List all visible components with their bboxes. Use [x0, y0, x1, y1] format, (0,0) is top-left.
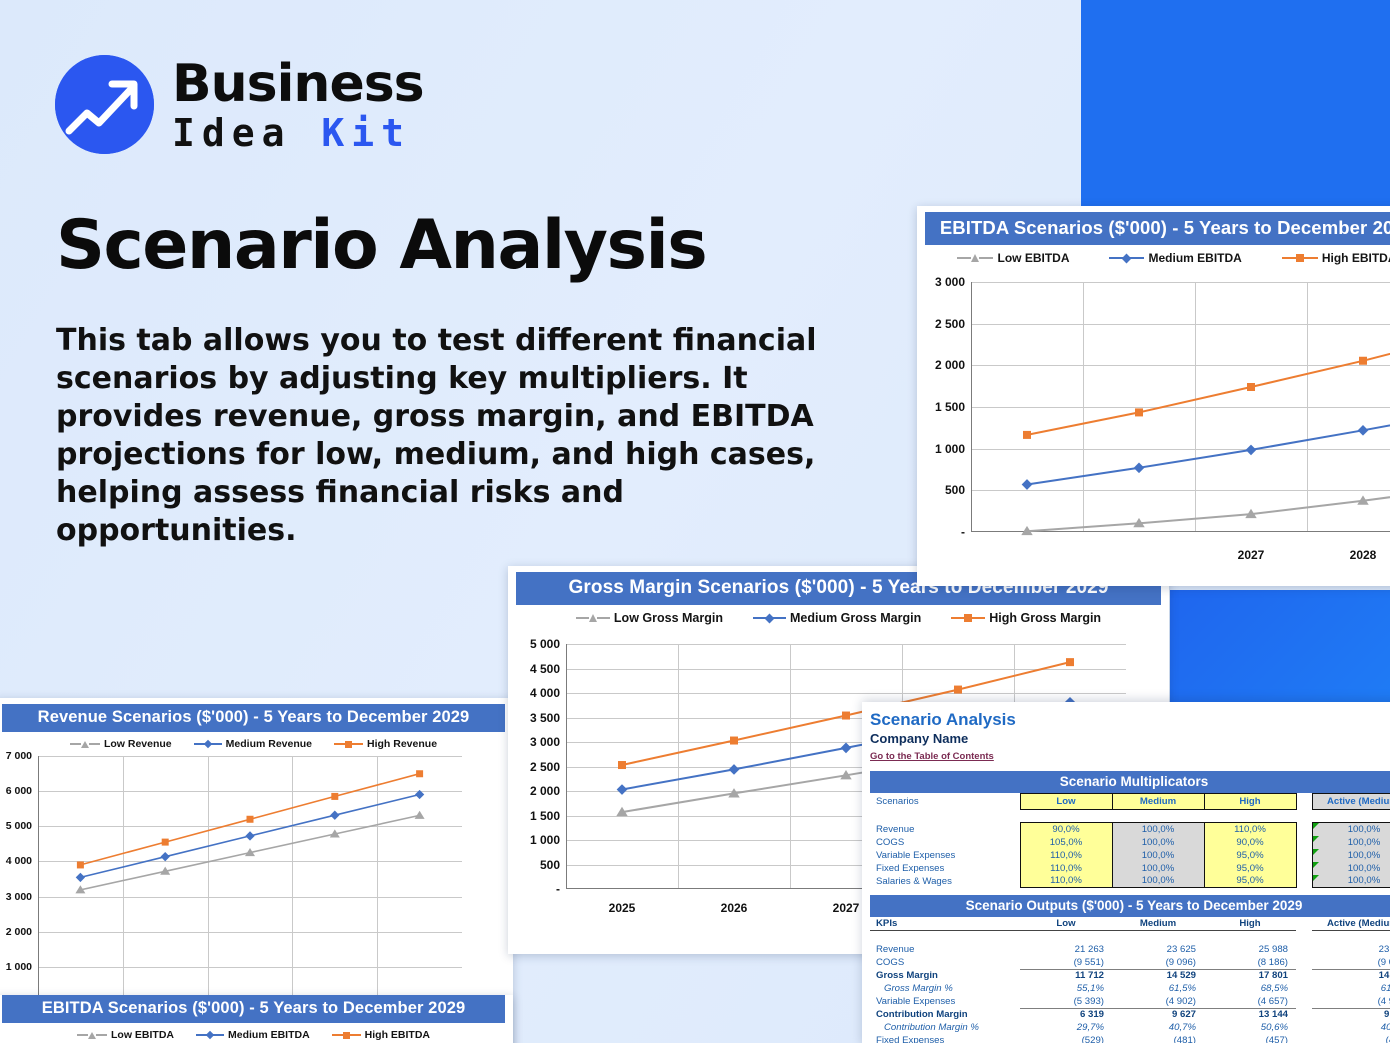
kpi-high: 17 801 [1204, 969, 1296, 982]
multiplicators-band: Scenario Multiplicators [870, 771, 1390, 793]
kpi-medium: (4 902) [1112, 995, 1204, 1008]
y-axis-tick: 7 000 [0, 750, 32, 762]
kpi-active: (9 096) [1312, 956, 1390, 969]
kpi-label: Contribution Margin [870, 1008, 1020, 1021]
legend-marker-diamond [206, 1031, 214, 1039]
multiplicators-col-header-1: Medium [1112, 794, 1204, 810]
legend-label: High Gross Margin [989, 611, 1101, 625]
kpi-low: (9 551) [1020, 956, 1112, 969]
legend-label: Medium EBITDA [1148, 251, 1241, 265]
y-axis-tick: 4 000 [512, 686, 560, 700]
data-point [77, 861, 84, 868]
series-line-1 [1027, 410, 1390, 485]
ebitda-bottom-chart-title: EBITDA Scenarios ($'000) - 5 Years to De… [2, 995, 505, 1023]
multiplicator-label: Variable Expenses [870, 849, 1020, 862]
y-axis-tick: 5 000 [0, 820, 32, 832]
y-axis-tick: 3 000 [0, 891, 32, 903]
legend-marker-triangle [589, 614, 597, 622]
legend-label: Medium EBITDA [228, 1029, 310, 1041]
data-point [76, 873, 85, 882]
legend-marker-diamond [203, 740, 211, 748]
gross-margin-chart-legend: Low Gross MarginMedium Gross MarginHigh … [516, 611, 1161, 625]
legend-line [576, 617, 589, 619]
legend-item-1: Medium EBITDA [196, 1029, 310, 1041]
spreadsheet-title: Scenario Analysis [870, 710, 1390, 730]
legend-marker-diamond [1122, 253, 1132, 263]
multiplicator-medium[interactable]: 100,0% [1112, 836, 1204, 849]
legend-item-2: High Gross Margin [951, 611, 1101, 625]
y-axis-tick: 2 000 [0, 926, 32, 938]
y-axis-tick: 500 [512, 858, 560, 872]
data-point [1066, 658, 1074, 666]
legend-marker-triangle [971, 254, 979, 262]
y-axis-tick: 2 500 [919, 317, 965, 331]
scenario-analysis-spreadsheet: Scenario Analysis Company Name Go to the… [862, 702, 1390, 1043]
legend-label: Low EBITDA [111, 1029, 174, 1041]
legend-item-2: High EBITDA [332, 1029, 430, 1041]
kpi-high: 68,5% [1204, 982, 1296, 995]
data-point [1134, 463, 1145, 474]
multiplicators-col-header-0: Low [1020, 794, 1112, 810]
y-axis-tick: - [919, 525, 965, 539]
ebitda-bottom-chart-panel: EBITDA Scenarios ($'000) - 5 Years to De… [0, 995, 513, 1043]
table-row: Gross Margin11 71214 52917 80114 529 [870, 969, 1390, 982]
legend-line [334, 743, 345, 745]
data-point [730, 737, 738, 745]
multiplicator-active: 100,0% [1312, 823, 1390, 836]
y-axis-tick: 2 500 [512, 760, 560, 774]
kpi-active: 14 529 [1312, 969, 1390, 982]
data-point [1359, 357, 1367, 365]
multiplicator-label: COGS [870, 836, 1020, 849]
data-point [1022, 479, 1033, 490]
table-row: Gross Margin %55,1%61,5%68,5%61,5% [870, 982, 1390, 995]
multiplicator-active: 100,0% [1312, 836, 1390, 849]
kpi-high: 50,6% [1204, 1021, 1296, 1034]
data-point [331, 793, 338, 800]
revenue-plot-area: -1 0002 0003 0004 0005 0006 0007 0002025… [38, 756, 462, 1002]
scenario-outputs-table: KPIsLowMediumHighActive (Medium)Revenue2… [870, 917, 1390, 1043]
table-row: Variable Expenses(5 393)(4 902)(4 657)(4… [870, 995, 1390, 1008]
kpi-low: (529) [1020, 1034, 1112, 1043]
kpi-high: 25 988 [1204, 943, 1296, 956]
kpi-label: Gross Margin [870, 969, 1020, 982]
multiplicator-label: Salaries & Wages [870, 875, 1020, 888]
kpi-high: (457) [1204, 1034, 1296, 1043]
kpi-medium: (481) [1112, 1034, 1204, 1043]
legend-marker-square [343, 1032, 350, 1039]
table-row-header: ScenariosLowMediumHighActive (Medium) [870, 794, 1390, 810]
y-axis-tick: 1 000 [512, 833, 560, 847]
y-axis-tick: 1 500 [919, 400, 965, 414]
legend-line [213, 1034, 224, 1036]
legend-label: Low EBITDA [997, 251, 1069, 265]
y-axis-tick: 3 500 [512, 711, 560, 725]
data-point [416, 770, 423, 777]
ebitda-chart-panel: EBITDA Scenarios ($'000) - 5 Years to De… [917, 206, 1390, 586]
kpi-medium: 9 627 [1112, 1008, 1204, 1021]
multiplicator-low[interactable]: 110,0% [1020, 849, 1112, 862]
outputs-col-header-0: KPIs [870, 917, 1020, 930]
spreadsheet-company-name: Company Name [870, 731, 1390, 746]
y-axis-tick: 2 000 [919, 358, 965, 372]
series-line-0 [1027, 486, 1390, 531]
legend-item-1: Medium EBITDA [1109, 251, 1241, 265]
kpi-medium: 23 625 [1112, 943, 1204, 956]
multiplicator-low[interactable]: 105,0% [1020, 836, 1112, 849]
data-point [330, 811, 339, 820]
y-axis-tick: 4 500 [512, 662, 560, 676]
y-axis-tick: - [512, 882, 560, 896]
data-point [1023, 431, 1031, 439]
data-point [954, 686, 962, 694]
table-row: COGS105,0%100,0%90,0%100,0% [870, 836, 1390, 849]
kpi-active: (4 902) [1312, 995, 1390, 1008]
kpi-low: 11 712 [1020, 969, 1112, 982]
x-axis-tick: 2026 [678, 901, 790, 915]
y-axis-tick: 1 000 [0, 961, 32, 973]
table-row: Variable Expenses110,0%100,0%95,0%100,0% [870, 849, 1390, 862]
multiplicator-active: 100,0% [1312, 875, 1390, 888]
legend-line [597, 617, 610, 619]
data-point [1246, 445, 1257, 456]
data-point [247, 816, 254, 823]
legend-item-1: Medium Gross Margin [753, 611, 921, 625]
table-row: Contribution Margin6 3199 62713 1449 627 [870, 1008, 1390, 1021]
x-axis-tick: 2025 [566, 901, 678, 915]
revenue-chart-legend: Low RevenueMedium RevenueHigh Revenue [2, 738, 505, 750]
table-row: COGS(9 551)(9 096)(8 186)(9 096) [870, 956, 1390, 969]
outputs-col-header-2: Medium [1112, 917, 1204, 930]
y-axis-tick: 1 000 [919, 442, 965, 456]
kpi-active: 61,5% [1312, 982, 1390, 995]
legend-label: Low Gross Margin [614, 611, 723, 625]
legend-line [951, 617, 964, 619]
legend-line [332, 1034, 343, 1036]
legend-line [1304, 257, 1318, 259]
ebitda-chart-title: EBITDA Scenarios ($'000) - 5 Years to De… [925, 212, 1390, 245]
ebitda-chart-legend: Low EBITDAMedium EBITDAHigh EBITDA [925, 251, 1390, 265]
kpi-label: Variable Expenses [870, 995, 1020, 1008]
multiplicator-medium[interactable]: 100,0% [1112, 823, 1204, 836]
kpi-medium: (9 096) [1112, 956, 1204, 969]
multiplicator-high[interactable]: 90,0% [1204, 836, 1296, 849]
legend-line [70, 743, 81, 745]
x-axis-tick: 2028 [1307, 548, 1390, 562]
decorative-blue-block-top [1081, 0, 1390, 208]
series-layer [38, 756, 462, 1002]
legend-line [89, 743, 100, 745]
kpi-low: 21 263 [1020, 943, 1112, 956]
legend-item-1: Medium Revenue [194, 738, 312, 750]
data-point [842, 712, 850, 720]
kpi-label: Gross Margin % [870, 982, 1020, 995]
brand-idea-text: Idea [172, 111, 321, 155]
legend-marker-triangle [81, 741, 89, 748]
ebitda-bottom-chart-legend: Low EBITDAMedium EBITDAHigh EBITDA [2, 1029, 505, 1041]
revenue-chart-title: Revenue Scenarios ($'000) - 5 Years to D… [2, 704, 505, 732]
y-axis-tick: 1 500 [512, 809, 560, 823]
multiplicator-low[interactable]: 110,0% [1020, 862, 1112, 875]
table-row: Salaries & Wages110,0%100,0%95,0%100,0% [870, 875, 1390, 888]
legend-line [352, 743, 363, 745]
scenario-multiplicators-table: ScenariosLowMediumHighActive (Medium)Rev… [870, 793, 1390, 888]
outputs-col-header-1: Low [1020, 917, 1112, 930]
legend-item-0: Low EBITDA [77, 1029, 174, 1041]
table-row: Revenue21 26323 62525 98823 625 [870, 943, 1390, 956]
multiplicator-high[interactable]: 95,0% [1204, 875, 1296, 888]
kpi-active: (481) [1312, 1034, 1390, 1043]
data-point [618, 761, 626, 769]
multiplicator-medium[interactable]: 100,0% [1112, 875, 1204, 888]
kpi-label: Revenue [870, 943, 1020, 956]
outputs-band: Scenario Outputs ($'000) - 5 Years to De… [870, 895, 1390, 917]
kpi-low: 29,7% [1020, 1021, 1112, 1034]
legend-label: Medium Revenue [226, 738, 312, 750]
table-row-header: KPIsLowMediumHighActive (Medium) [870, 917, 1390, 930]
table-row: Fixed Expenses(529)(481)(457)(481) [870, 1034, 1390, 1043]
y-axis-tick: 3 000 [512, 735, 560, 749]
y-axis-tick: 6 000 [0, 785, 32, 797]
brand-name-primary: Business [172, 58, 424, 110]
slide-canvas: Business Idea Kit Scenario Analysis This… [0, 0, 1390, 1043]
y-axis-tick: 4 000 [0, 855, 32, 867]
legend-item-0: Low Revenue [70, 738, 172, 750]
multiplicators-row-label: Scenarios [870, 794, 1020, 810]
brand-logo: Business Idea Kit [55, 55, 424, 154]
kpi-high: 13 144 [1204, 1008, 1296, 1021]
multiplicator-high[interactable]: 110,0% [1204, 823, 1296, 836]
y-axis-tick: 3 000 [919, 275, 965, 289]
series-line-2 [1027, 332, 1390, 435]
legend-line [972, 617, 985, 619]
legend-line [96, 1034, 107, 1036]
kpi-active: 23 625 [1312, 943, 1390, 956]
legend-item-0: Low EBITDA [957, 251, 1069, 265]
multiplicator-high[interactable]: 95,0% [1204, 849, 1296, 862]
legend-label: High EBITDA [365, 1029, 430, 1041]
multiplicator-medium[interactable]: 100,0% [1112, 862, 1204, 875]
legend-line [1130, 257, 1144, 259]
legend-line [77, 1034, 88, 1036]
legend-line [350, 1034, 361, 1036]
multiplicator-active: 100,0% [1312, 862, 1390, 875]
legend-item-0: Low Gross Margin [576, 611, 723, 625]
table-row: Fixed Expenses110,0%100,0%95,0%100,0% [870, 862, 1390, 875]
kpi-low: 55,1% [1020, 982, 1112, 995]
revenue-chart-panel: Revenue Scenarios ($'000) - 5 Years to D… [0, 698, 513, 1043]
table-row: Contribution Margin %29,7%40,7%50,6%40,7… [870, 1021, 1390, 1034]
kpi-high: (4 657) [1204, 995, 1296, 1008]
kpi-label: Contribution Margin % [870, 1021, 1020, 1034]
legend-marker-square [964, 614, 972, 622]
kpi-active: 9 627 [1312, 1008, 1390, 1021]
growth-arrow-icon [55, 55, 154, 154]
brand-name-secondary: Idea Kit [172, 114, 424, 152]
legend-marker-diamond [765, 613, 775, 623]
kpi-active: 40,7% [1312, 1021, 1390, 1034]
kpi-medium: 40,7% [1112, 1021, 1204, 1034]
data-point [729, 764, 740, 775]
legend-label: Low Revenue [104, 738, 172, 750]
legend-label: High Revenue [367, 738, 437, 750]
multiplicator-medium[interactable]: 100,0% [1112, 849, 1204, 862]
legend-line [1282, 257, 1296, 259]
data-point [617, 784, 628, 795]
data-point [841, 743, 852, 754]
data-point [1247, 383, 1255, 391]
outputs-col-header-4: Active (Medium) [1312, 917, 1390, 930]
legend-label: Medium Gross Margin [790, 611, 921, 625]
x-axis-tick: 2027 [1195, 548, 1307, 562]
data-point [245, 831, 254, 840]
brand-kit-text: Kit [321, 111, 411, 155]
data-point [161, 852, 170, 861]
decorative-blue-block-middle [1170, 590, 1390, 702]
multiplicators-col-header-2: High [1204, 794, 1296, 810]
legend-marker-triangle [88, 1032, 96, 1039]
kpi-low: 6 319 [1020, 1008, 1112, 1021]
y-axis-tick: 2 000 [512, 784, 560, 798]
kpi-medium: 61,5% [1112, 982, 1204, 995]
kpi-label: Fixed Expenses [870, 1034, 1020, 1043]
page-description: This tab allows you to test different fi… [56, 322, 856, 551]
multiplicators-active-header: Active (Medium) [1312, 794, 1390, 810]
y-axis-tick: 500 [919, 483, 965, 497]
legend-line [979, 257, 993, 259]
multiplicator-low[interactable]: 90,0% [1020, 823, 1112, 836]
multiplicator-label: Fixed Expenses [870, 862, 1020, 875]
kpi-low: (5 393) [1020, 995, 1112, 1008]
kpi-label: COGS [870, 956, 1020, 969]
kpi-high: (8 186) [1204, 956, 1296, 969]
multiplicator-label: Revenue [870, 823, 1020, 836]
y-axis-tick: 5 000 [512, 637, 560, 651]
legend-item-2: High EBITDA [1282, 251, 1390, 265]
ebitda-plot-area: -5001 0001 5002 0002 5003 00020272028 [971, 282, 1390, 532]
legend-marker-square [1296, 254, 1304, 262]
table-row: Revenue90,0%100,0%110,0%100,0% [870, 823, 1390, 836]
legend-label: High EBITDA [1322, 251, 1390, 265]
multiplicator-high[interactable]: 95,0% [1204, 862, 1296, 875]
data-point [1135, 408, 1143, 416]
series-layer [971, 282, 1390, 532]
data-point [415, 790, 424, 799]
data-point [1358, 425, 1369, 436]
outputs-col-header-3: High [1204, 917, 1296, 930]
page-title: Scenario Analysis [56, 206, 706, 285]
multiplicator-active: 100,0% [1312, 849, 1390, 862]
legend-line [957, 257, 971, 259]
legend-item-2: High Revenue [334, 738, 437, 750]
kpi-medium: 14 529 [1112, 969, 1204, 982]
legend-marker-square [345, 741, 352, 748]
table-of-contents-link[interactable]: Go to the Table of Contents [870, 751, 994, 762]
data-point [415, 811, 425, 819]
data-point [162, 839, 169, 846]
multiplicator-low[interactable]: 110,0% [1020, 875, 1112, 888]
